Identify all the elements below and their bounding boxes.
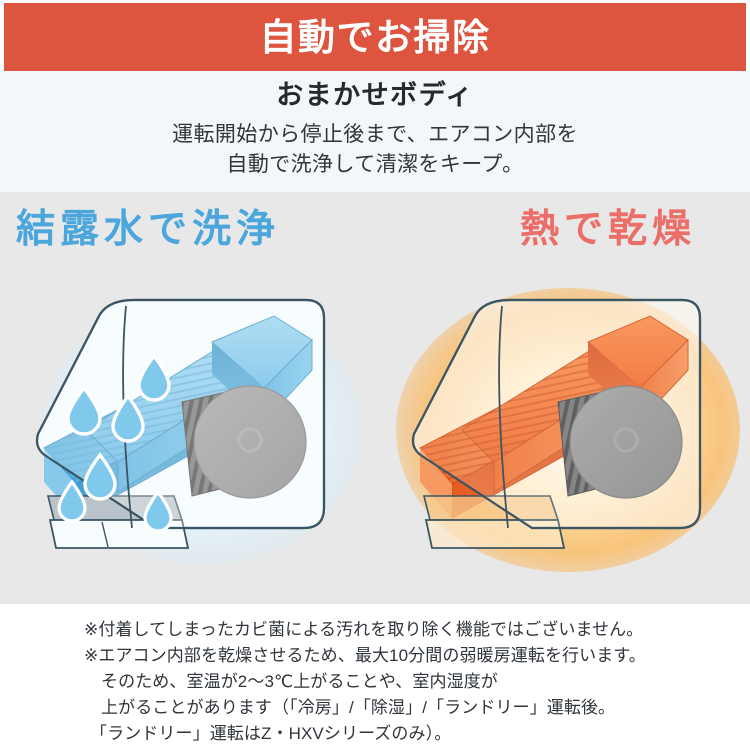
infographic-page: 自動でお掃除 おまかせボディ 運転開始から停止後まで、エアコン内部を 自動で洗浄… — [0, 0, 750, 750]
illustration-panel: 結露水で洗浄 熱で乾燥 — [0, 192, 750, 604]
right-scene-label: 熱で乾燥 — [520, 210, 696, 249]
page-title: 自動でお掃除 — [260, 19, 491, 56]
footnotes: ※付着してしまったカビ菌による汚れを取り除く機能ではございません。 ※エアコン内… — [0, 604, 750, 750]
header-banner: 自動でお掃除 — [4, 3, 746, 71]
left-illustration — [6, 270, 366, 590]
footnote-line: ※付着してしまったカビ菌による汚れを取り除く機能ではございません。 — [84, 617, 730, 643]
footnote-line: 「ランドリー」運転はZ・HXVシリーズのみ）。 — [84, 721, 730, 747]
footnote-line: そのため、室温が2〜3℃上がることや、室内湿度が — [84, 669, 730, 695]
intro-section: おまかせボディ 運転開始から停止後まで、エアコン内部を 自動で洗浄して清潔をキー… — [0, 71, 750, 192]
left-scene-label: 結露水で洗浄 — [16, 210, 280, 249]
footnote-line: 上がることがあります（「冷房」/「除湿」/「ランドリー」運転後。 — [84, 695, 730, 721]
footnote-line: ※エアコン内部を乾燥させるため、最大10分間の弱暖房運転を行います。 — [84, 643, 730, 669]
feature-description-line: 自動で洗浄して清潔をキープ。 — [0, 150, 750, 180]
feature-heading: おまかせボディ — [0, 79, 750, 113]
right-illustration — [382, 270, 742, 590]
feature-description-line: 運転開始から停止後まで、エアコン内部を — [0, 120, 750, 150]
feature-description: 運転開始から停止後まで、エアコン内部を 自動で洗浄して清潔をキープ。 — [0, 120, 750, 181]
